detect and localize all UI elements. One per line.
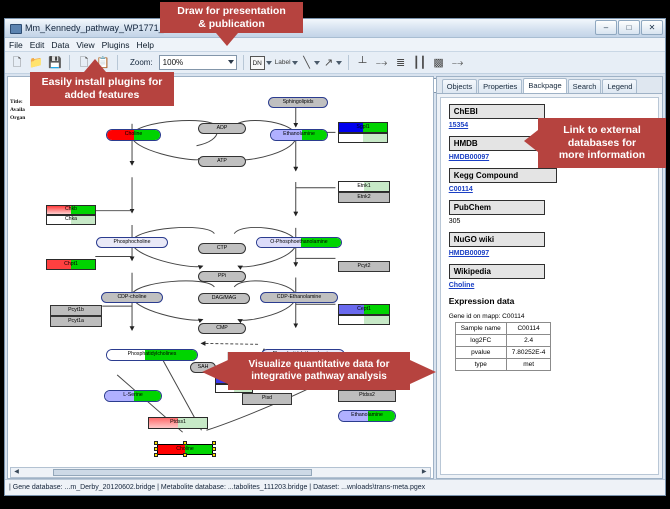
scroll-thumb[interactable] (53, 469, 313, 476)
status-bar: | Gene database: ...m_Derby_20120602.bri… (5, 479, 665, 495)
db-header-kegg: Kegg Compound (449, 168, 557, 183)
node-choline-top[interactable]: Choline (106, 129, 161, 141)
meta-availability: Availa (10, 107, 25, 113)
toolbar-divider-3 (243, 55, 244, 70)
meta-organism: Organ (10, 115, 25, 121)
node-label: Cept1 (357, 307, 371, 312)
menu-item-edit[interactable]: Edit (30, 40, 45, 50)
gene-sgpl1-row2[interactable] (338, 133, 388, 143)
gene-pisd[interactable]: Pisd (242, 393, 292, 405)
db-header-wikipedia: Wikipedia (449, 264, 545, 279)
status-text: | Gene database: ...m_Derby_20120602.bri… (9, 484, 425, 491)
node-ppi[interactable]: PPi (198, 271, 246, 282)
db-link-wikipedia[interactable]: Choline (449, 282, 650, 289)
align-top-icon[interactable]: ┴ (355, 55, 371, 71)
selection-handles[interactable]: Choline (154, 441, 216, 457)
callout-visualize-arrow-left (202, 360, 228, 384)
connector-tool[interactable]: ↗ (323, 55, 342, 71)
node-cmp[interactable]: CMP (198, 323, 246, 334)
callout-link-line3: more information (559, 149, 645, 161)
table-row: type met (455, 359, 551, 371)
node-label: CDP-choline (117, 295, 146, 300)
gene-pcyt2[interactable]: Pcyt2 (338, 261, 390, 272)
node-label: DAG/MAG (212, 296, 237, 301)
callout-plugins-arrow (84, 59, 106, 72)
callout-visualize: Visualize quantitative data for integrat… (228, 352, 410, 390)
gene-ptdss2[interactable]: Ptdss2 (338, 390, 396, 402)
node-label: Phosphocholine (114, 240, 151, 245)
line-icon: ╲ (301, 55, 313, 71)
gene-id-line: Gene id on mapp: C00114 (449, 313, 650, 320)
menu-item-file[interactable]: File (9, 40, 23, 50)
node-label: Etnk1 (357, 184, 370, 189)
line-tool[interactable]: ╲ (301, 55, 320, 71)
menu-item-help[interactable]: Help (137, 40, 154, 50)
open-folder-icon[interactable]: 📁 (28, 55, 44, 71)
handle-ne[interactable] (212, 441, 216, 445)
callout-plugins-text: Easily install plugins for added feature… (42, 76, 163, 101)
node-ctp[interactable]: CTP (198, 243, 246, 254)
node-label: Sgpl1 (356, 125, 369, 130)
cell-key: pvalue (455, 347, 506, 359)
callout-link-text: Link to external databases for more info… (559, 124, 645, 162)
node-dag-mag[interactable]: DAG/MAG (198, 293, 250, 304)
tab-objects[interactable]: Objects (442, 79, 477, 93)
node-l-serine-left[interactable]: L-Serine (104, 390, 162, 402)
callout-visualize-arrow-right (410, 360, 436, 384)
node-label: Ethanolamine (283, 132, 315, 137)
node-cdp-ethanolamine[interactable]: CDP-Ethanolamine (260, 292, 338, 303)
chevron-down-icon (228, 60, 234, 64)
save-icon[interactable]: 💾 (47, 55, 63, 71)
node-label: Ethanolamine (351, 413, 383, 418)
node-label: Choline (125, 132, 143, 137)
pathvisio-icon (9, 22, 21, 34)
chevron-down-icon (314, 61, 320, 65)
toolbar-divider-1 (69, 55, 70, 70)
callout-draw-line2: & publication (198, 18, 265, 30)
handle-se[interactable] (212, 453, 216, 457)
gene-etnk2[interactable]: Etnk2 (338, 192, 390, 203)
node-label: ATP (217, 159, 227, 164)
pathway-drawing[interactable]: Title: Availa Organ (8, 77, 433, 478)
canvas-hscrollbar[interactable]: ◀ ▶ (10, 467, 431, 478)
db-link-nugo[interactable]: HMDB00097 (449, 250, 650, 257)
tab-backpage[interactable]: Backpage (523, 78, 566, 93)
handle-sw[interactable] (154, 453, 158, 457)
node-label: CMP (216, 326, 228, 331)
node-cdp-choline[interactable]: CDP-choline (101, 292, 163, 303)
table-row: Sample name C00114 (455, 323, 551, 335)
cell-value: C00114 (506, 323, 551, 335)
node-label: CDP-Ethanolamine (277, 295, 321, 300)
expression-table: Sample name C00114 log2FC 2.4 pvalue 7.8… (455, 322, 552, 371)
node-phosphocholine[interactable]: Phosphocholine (96, 237, 168, 248)
menu-item-plugins[interactable]: Plugins (102, 40, 130, 50)
align-middle-icon[interactable]: ≣ (393, 55, 409, 71)
callout-plugins-line1: Easily install plugins for (42, 76, 163, 88)
node-label: Pcyt1b (68, 308, 84, 313)
scroll-left-arrow[interactable]: ◀ (12, 469, 21, 476)
node-atp[interactable]: ATP (198, 156, 246, 167)
callout-link-arrow (524, 130, 538, 152)
toolbar-divider-2 (117, 55, 118, 70)
db-header-nugo: NuGO wiki (449, 232, 545, 247)
callout-plugins-line2: added features (65, 89, 140, 101)
datanode-icon: DN (250, 56, 265, 70)
node-label: Sphingolipids (283, 100, 314, 105)
handle-s[interactable] (183, 453, 187, 457)
distribute-icon[interactable]: ┃┃ (412, 55, 428, 71)
cell-value: 7.80252E-4 (506, 347, 551, 359)
callout-draw-arrow (216, 33, 238, 46)
callout-draw-text: Draw for presentation & publication (177, 5, 286, 30)
close-button[interactable]: ✕ (641, 20, 663, 35)
gene-cept1-row2[interactable] (338, 315, 390, 325)
handle-e[interactable] (212, 447, 216, 451)
zoom-combobox[interactable]: 100% (159, 55, 237, 70)
same-width-icon[interactable]: ▩ (431, 55, 447, 71)
callout-draw: Draw for presentation & publication (160, 2, 303, 33)
db-value-pubchem: 305 (449, 218, 650, 225)
cell-key: type (455, 359, 506, 371)
gene-pcyt1a[interactable]: Pcyt1a (50, 316, 102, 327)
callout-visualize-text: Visualize quantitative data for integrat… (249, 359, 390, 383)
table-row: pvalue 7.80252E-4 (455, 347, 551, 359)
expression-fill (339, 316, 389, 324)
node-label: PPi (218, 274, 226, 279)
window-buttons: – □ ✕ (595, 20, 663, 35)
node-label: Ptdss1 (170, 420, 186, 425)
same-height-icon[interactable]: ⤍ (450, 55, 466, 71)
node-label: Pisd (262, 396, 272, 401)
toolbar-divider-4 (348, 55, 349, 70)
table-row: log2FC 2.4 (455, 335, 551, 347)
cell-value: 2.4 (506, 335, 551, 347)
expression-data-title: Expression data (449, 296, 650, 306)
node-label: Etnk2 (357, 195, 370, 200)
node-label: O-Phosphoethanolamine (270, 240, 327, 245)
chevron-down-icon (292, 61, 298, 65)
menu-item-view[interactable]: View (76, 40, 94, 50)
node-label: L-Serine (123, 393, 143, 398)
label-tool-text: Label (275, 59, 291, 66)
gene-ptdss1[interactable]: Ptdss1 (148, 417, 208, 429)
cell-key: Sample name (455, 323, 506, 335)
gene-chpt1[interactable]: Chpt1 (46, 259, 96, 270)
node-label: CTP (217, 246, 227, 251)
db-link-kegg[interactable]: C00114 (449, 186, 650, 193)
callout-plugins: Easily install plugins for added feature… (30, 72, 174, 106)
label-tool[interactable]: Label (275, 59, 298, 66)
tab-search[interactable]: Search (568, 79, 602, 93)
db-header-chebi: ChEBI (449, 104, 545, 119)
node-label: Phosphatidylcholines (128, 352, 177, 357)
node-ethanolamine-bottom[interactable]: Ethanolamine (338, 410, 396, 422)
expression-fill (339, 134, 387, 142)
node-adp[interactable]: ADP (198, 123, 246, 134)
pathway-canvas[interactable]: Title: Availa Organ (7, 76, 434, 479)
handle-w[interactable] (154, 447, 158, 451)
chevron-down-icon (336, 61, 342, 65)
scroll-right-arrow[interactable]: ▶ (420, 469, 429, 476)
node-label: Ptdss2 (359, 393, 375, 398)
node-label: Pcyt2 (358, 264, 371, 269)
gene-cept1[interactable]: Cept1 (338, 304, 390, 315)
node-phosphatidylcholines[interactable]: Phosphatidylcholines (106, 349, 198, 361)
callout-link-line1: Link to external (563, 124, 641, 136)
screenshot-root: Mm_Kennedy_pathway_WP1771_45176.gpml - P… (0, 0, 670, 509)
callout-link-line2: databases for (568, 137, 636, 149)
menu-bar: File Edit Data View Plugins Help (5, 38, 665, 52)
connector-icon: ↗ (323, 55, 335, 71)
zoom-value: 100% (163, 58, 183, 67)
align-left-icon[interactable]: ⤍ (374, 55, 390, 71)
node-label: Choline (176, 447, 194, 452)
title-bar: Mm_Kennedy_pathway_WP1771_45176.gpml - P… (5, 19, 665, 38)
db-header-pubchem: PubChem (449, 200, 545, 215)
callout-visualize-line1: Visualize quantitative data for (249, 359, 390, 370)
tab-properties[interactable]: Properties (478, 79, 522, 93)
node-ethanolamine-top[interactable]: Ethanolamine (270, 129, 328, 141)
meta-title: Title: (10, 99, 23, 105)
node-sphingolipids[interactable]: Sphingolipids (268, 97, 328, 108)
callout-link: Link to external databases for more info… (538, 118, 666, 168)
menu-item-data[interactable]: Data (51, 40, 69, 50)
cell-value: met (506, 359, 551, 371)
minimize-button[interactable]: – (595, 20, 617, 35)
maximize-button[interactable]: □ (618, 20, 640, 35)
gene-chka[interactable]: Chka (46, 215, 96, 225)
side-panel-tabs: Objects Properties Backpage Search Legen… (437, 77, 662, 94)
handle-nw[interactable] (154, 441, 158, 445)
node-label: ADP (217, 126, 228, 131)
gene-sgpl1[interactable]: Sgpl1 (338, 122, 388, 133)
node-label: Chkb (65, 207, 77, 212)
node-label: Chka (65, 217, 77, 222)
callout-draw-line1: Draw for presentation (177, 5, 286, 17)
cell-key: log2FC (455, 335, 506, 347)
handle-n[interactable] (183, 441, 187, 445)
callout-visualize-line2: integrative pathway analysis (251, 371, 387, 382)
gene-etnk1[interactable]: Etnk1 (338, 181, 390, 192)
chevron-down-icon (266, 61, 272, 65)
datanode-tool[interactable]: DN (250, 56, 272, 70)
node-label: Pcyt1a (68, 319, 84, 324)
gene-pcyt1b[interactable]: Pcyt1b (50, 305, 102, 316)
zoom-label: Zoom: (130, 58, 153, 67)
node-label: Chpt1 (64, 262, 78, 267)
new-file-icon[interactable]: 🗋 (9, 55, 25, 71)
gene-chkb[interactable]: Chkb (46, 205, 96, 215)
tab-legend[interactable]: Legend (602, 79, 637, 93)
node-o-phosphoethanolamine[interactable]: O-Phosphoethanolamine (256, 237, 342, 248)
